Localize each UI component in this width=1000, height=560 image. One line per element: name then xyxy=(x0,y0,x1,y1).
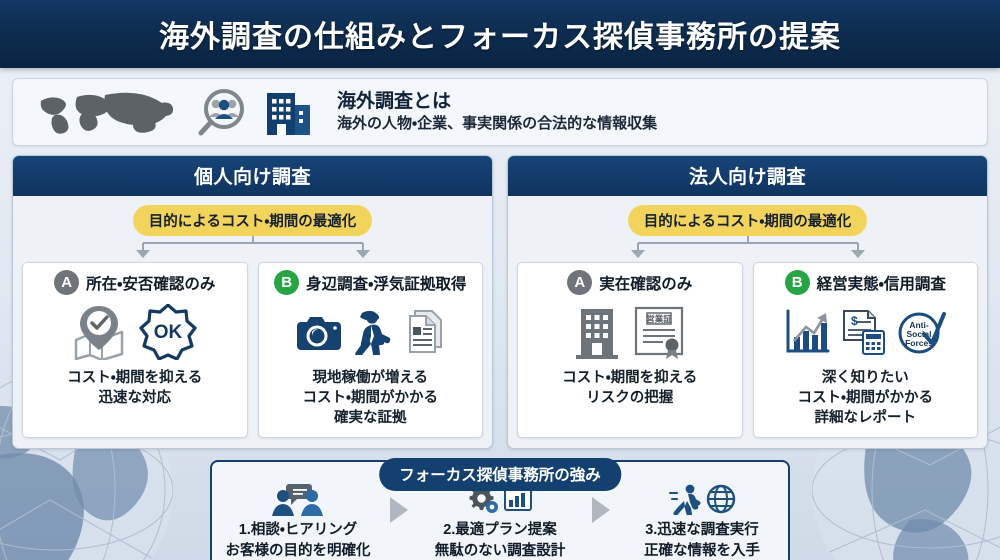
anti-social-forces-icon: Anti- Social Forces xyxy=(896,308,946,356)
svg-text:$: $ xyxy=(851,314,858,328)
card-line: コスト・期間がかかる xyxy=(303,388,438,408)
card-badge: B xyxy=(274,270,299,295)
business-license-icon: 営業証 xyxy=(631,305,687,359)
step-line2: 正確な情報を入手 xyxy=(644,539,760,560)
intro-band: 海外調査とは 海外の人物・企業、事実関係の合法的な情報収集 xyxy=(12,78,988,146)
card-badge: A xyxy=(567,270,592,295)
map-pin-check-icon xyxy=(72,304,130,360)
strength-step-1: 1.相談・ヒアリング お客様の目的を明確化 xyxy=(212,482,384,560)
office-building-icon xyxy=(261,87,315,137)
strength-section: フォーカス探偵事務所の強み 1.相談・ヒアリング お客様の目的を明確化 xyxy=(210,460,790,560)
card-personal-a: A 所在・安否確認のみ xyxy=(22,262,248,438)
card-corporate-a: A 実在確認のみ xyxy=(517,262,743,438)
card-line: 現地稼働が増える xyxy=(303,368,438,388)
step-line1: 3.迅速な調査実行 xyxy=(645,518,759,539)
documents-icon xyxy=(401,309,445,355)
card-personal-b: B 身辺調査・浮気証拠取得 xyxy=(258,262,484,438)
svg-text:OK: OK xyxy=(154,322,183,343)
card-line: 確実な証拠 xyxy=(303,408,438,428)
world-map-icon xyxy=(33,89,183,135)
intro-title: 海外調査とは xyxy=(337,90,657,114)
card-title: 身辺調査・浮気証拠取得 xyxy=(306,272,466,294)
growth-chart-icon xyxy=(784,309,830,355)
step-line2: お客様の目的を明確化 xyxy=(226,539,371,560)
card-title: 実在確認のみ xyxy=(599,272,692,294)
step-line2: 無駄のない調査設計 xyxy=(435,539,566,560)
running-person-icon xyxy=(669,483,701,515)
card-line: コスト・期間がかかる xyxy=(798,388,933,408)
strength-step-2: 2.最適プラン提案 無駄のない調査設計 xyxy=(414,482,586,560)
panel-corporate-split-arrows xyxy=(517,236,978,262)
strength-step-3: 3.迅速な調査実行 正確な情報を入手 xyxy=(616,482,788,560)
camera-icon xyxy=(295,310,343,354)
people-conversation-icon xyxy=(267,482,329,516)
license-label: 営業証 xyxy=(646,314,672,324)
globe-icon xyxy=(706,484,736,514)
panel-personal: 個人向け調査 目的によるコスト・期間の最適化 A xyxy=(12,155,493,449)
walking-person-icon xyxy=(352,309,392,355)
panel-corporate-pill: 目的によるコスト・期間の最適化 xyxy=(628,205,868,236)
card-badge: A xyxy=(54,270,79,295)
step-line1: 2.最適プラン提案 xyxy=(443,518,557,539)
page-header: 海外調査の仕組みとフォーカス探偵事務所の提案 xyxy=(0,0,1000,68)
card-badge: B xyxy=(785,270,810,295)
panel-personal-split-arrows xyxy=(22,236,483,262)
step-line1: 1.相談・ヒアリング xyxy=(239,518,358,539)
card-line: 迅速な対応 xyxy=(67,388,202,408)
office-building-icon xyxy=(572,305,622,359)
panels-container: 個人向け調査 目的によるコスト・期間の最適化 A xyxy=(12,155,988,449)
invoice-calculator-icon: $ xyxy=(839,309,887,355)
panel-personal-pill: 目的によるコスト・期間の最適化 xyxy=(133,205,373,236)
card-title: 経営実態・信用調査 xyxy=(817,272,946,294)
panel-corporate: 法人向け調査 目的によるコスト・期間の最適化 A xyxy=(507,155,988,449)
panel-corporate-title: 法人向け調査 xyxy=(508,156,987,196)
intro-subtitle: 海外の人物・企業、事実関係の合法的な情報収集 xyxy=(337,114,657,134)
page-title: 海外調査の仕組みとフォーカス探偵事務所の提案 xyxy=(159,12,841,56)
card-line: 詳細なレポート xyxy=(798,408,933,428)
magnifier-people-icon xyxy=(197,87,255,137)
panel-personal-title: 個人向け調査 xyxy=(13,156,492,196)
card-line: コスト・期間を抑える xyxy=(562,368,697,388)
ok-badge-icon: OK xyxy=(139,304,197,360)
strength-label: フォーカス探偵事務所の強み xyxy=(379,458,621,491)
card-line: リスクの把握 xyxy=(562,388,697,408)
card-title: 所在・安否確認のみ xyxy=(86,272,215,294)
card-corporate-b: B 経営実態・信用調査 xyxy=(753,262,979,438)
card-line: コスト・期間を抑える xyxy=(67,368,202,388)
card-line: 深く知りたい xyxy=(798,368,933,388)
